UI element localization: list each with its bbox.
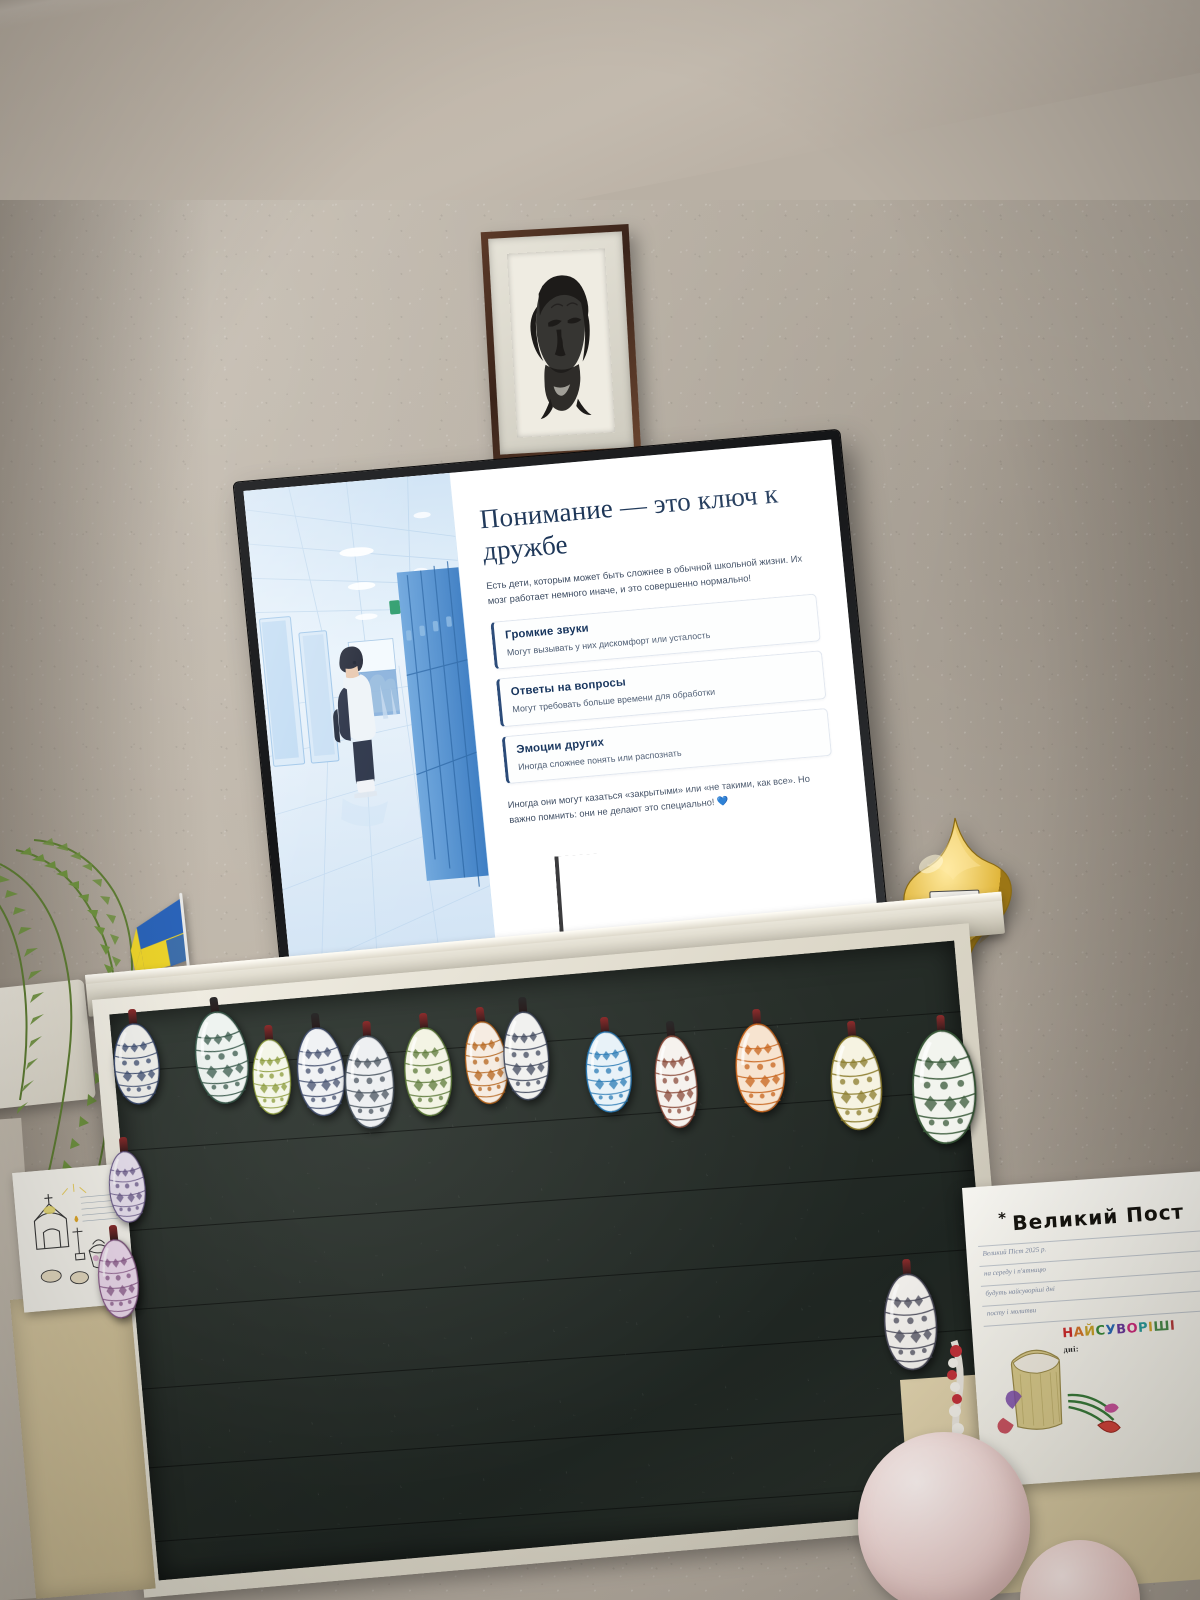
poster-asterisk: * [998, 1209, 1008, 1228]
easter-egg [248, 1037, 295, 1118]
poster-letter: Ш [1153, 1319, 1171, 1335]
easter-egg [92, 1236, 144, 1322]
slide-cards: Громкие звуки Могут вызывать у них диско… [490, 593, 832, 784]
poster-heading-text: Великий Пост [1012, 1199, 1185, 1235]
poster-line: Великий Піст 2025 р. [982, 1245, 1046, 1257]
poster-letter: І [1169, 1318, 1175, 1333]
easter-egg [906, 1026, 982, 1148]
poster-line: на середу і п'ятницю [984, 1265, 1046, 1277]
portrait-artwork [507, 248, 615, 437]
heart-icon: 💙 [717, 796, 730, 807]
portrait-mat [488, 231, 634, 454]
easter-egg [878, 1270, 943, 1374]
easter-egg [824, 1032, 888, 1135]
classroom-scene: Понимание — это ключ к дружбе Есть дети,… [0, 0, 1200, 1600]
pink-balloon [858, 1432, 1030, 1600]
easter-egg [340, 1033, 399, 1132]
framed-portrait [481, 224, 642, 462]
easter-egg [108, 1020, 165, 1108]
slide-footer-sentence: Иногда они могут казаться «закрытыми» ил… [507, 774, 810, 825]
poster-heading: *Великий Пост [998, 1192, 1200, 1236]
easter-egg [730, 1020, 790, 1116]
easter-egg [580, 1028, 637, 1116]
easter-egg [398, 1024, 458, 1120]
easter-egg [104, 1148, 150, 1225]
poster-line: будуть найсуворіші дні [985, 1284, 1055, 1297]
easter-egg [648, 1032, 704, 1132]
easter-egg [498, 1008, 554, 1103]
